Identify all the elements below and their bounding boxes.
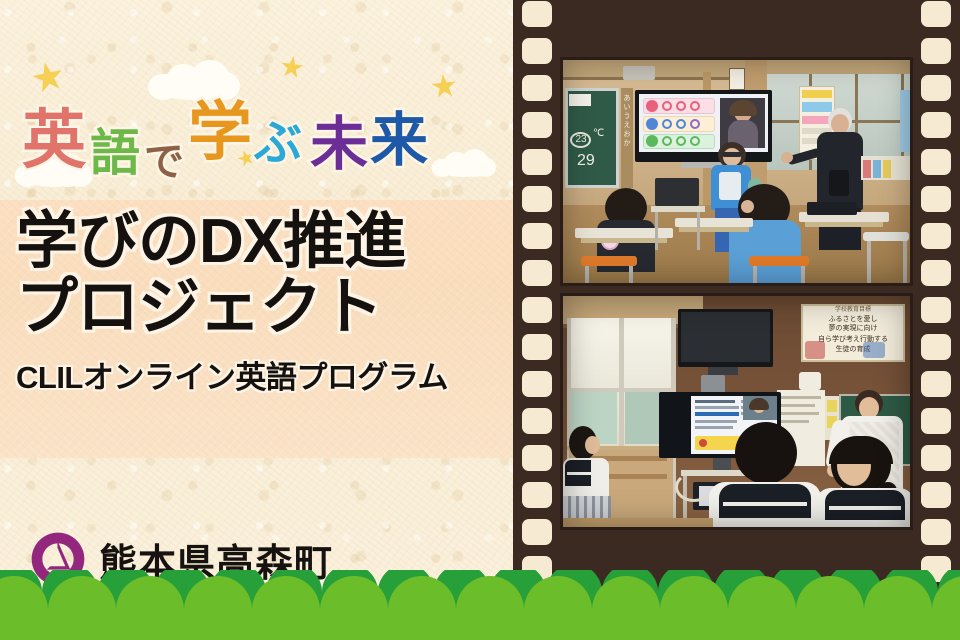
film-sprocket-hole	[522, 445, 552, 471]
film-sprocket-hole	[522, 519, 552, 545]
film-sprocket-hole	[921, 371, 951, 397]
headline-block: 学びのDX推進 プロジェクト CLILオンライン英語プログラム	[16, 210, 516, 397]
decorative-title-char-0: 英	[22, 108, 86, 172]
film-sprocket-hole	[921, 445, 951, 471]
film-sprocket-hole	[522, 408, 552, 434]
decorative-title-char-4: ぶ	[254, 120, 302, 168]
film-sprocket-hole	[522, 1, 552, 27]
headline-subtitle: CLILオンライン英語プログラム	[16, 352, 516, 397]
photo-junior-high-classroom: 学校教育目標 ふるさとを愛し 夢の実現に向け 自ら学び考え行動する 生徒の育成	[560, 293, 913, 530]
film-sprocket-hole	[522, 75, 552, 101]
film-sprocket-hole	[921, 149, 951, 175]
film-sprocket-holes-left	[522, 0, 552, 596]
decorative-title-char-3: 学	[188, 100, 252, 164]
film-sprocket-hole	[921, 223, 951, 249]
headline-line-2: プロジェクト	[16, 276, 516, 340]
decorative-title-char-1: 語	[90, 128, 140, 178]
film-strip: 23 ℃ 29 あいうえおか	[513, 0, 960, 596]
film-sprocket-hole	[921, 1, 951, 27]
film-sprocket-hole	[921, 75, 951, 101]
film-sprocket-hole	[921, 408, 951, 434]
film-sprocket-hole	[522, 186, 552, 212]
grass-border	[0, 570, 960, 640]
film-sprocket-hole	[522, 371, 552, 397]
photo-elementary-classroom: 23 ℃ 29 あいうえおか	[560, 57, 913, 286]
film-sprocket-hole	[522, 260, 552, 286]
film-sprocket-hole	[921, 334, 951, 360]
film-sprocket-hole	[921, 112, 951, 138]
decorative-title-char-6: 来	[370, 112, 428, 170]
film-sprocket-hole	[522, 223, 552, 249]
poster-canvas: 英語で学ぶ未来 学びのDX推進 プロジェクト CLILオンライン英語プログラム …	[0, 0, 960, 640]
film-sprocket-holes-right	[921, 0, 951, 596]
film-sprocket-hole	[522, 297, 552, 323]
film-sprocket-hole	[921, 38, 951, 64]
film-sprocket-hole	[522, 38, 552, 64]
film-sprocket-hole	[522, 334, 552, 360]
film-sprocket-hole	[921, 260, 951, 286]
film-sprocket-hole	[921, 297, 951, 323]
film-sprocket-hole	[522, 112, 552, 138]
film-sprocket-hole	[921, 519, 951, 545]
film-sprocket-hole	[921, 186, 951, 212]
film-sprocket-hole	[522, 482, 552, 508]
film-sprocket-hole	[921, 482, 951, 508]
film-sprocket-hole	[522, 149, 552, 175]
decorative-title-char-2: で	[144, 142, 184, 182]
decorative-title: 英語で学ぶ未来	[22, 82, 492, 172]
decorative-title-char-5: 未	[310, 116, 368, 174]
headline-line-1: 学びのDX推進	[16, 210, 516, 274]
